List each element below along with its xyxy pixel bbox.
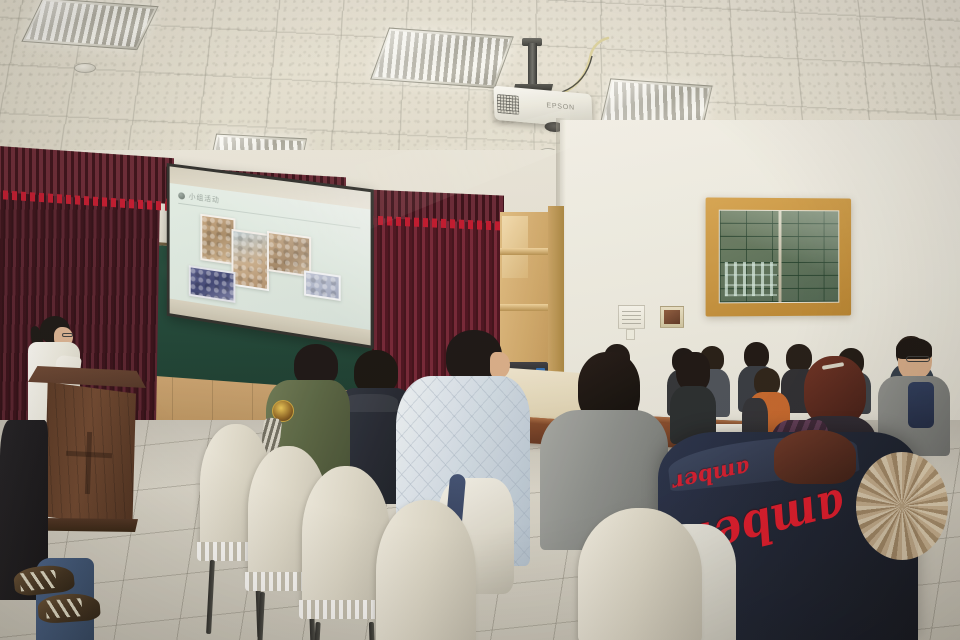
classroom-presentation-photo: EPSON 小组活动: [0, 0, 960, 640]
wall-window: [706, 197, 851, 316]
photo-grain: [191, 267, 234, 300]
photo-grain: [306, 273, 339, 299]
attendee-head: [786, 344, 812, 372]
slide-photo-1: [200, 214, 235, 266]
sneaker-stripes: [19, 570, 57, 592]
photo-grain: [233, 231, 267, 289]
chair-leg: [256, 592, 265, 640]
chair-leg: [206, 560, 215, 634]
wall-notice-tag: [626, 329, 635, 340]
chair-back-cover: [578, 508, 702, 640]
chair-back-cover: [376, 500, 476, 640]
window-glare: [720, 211, 839, 303]
smoke-detector-icon: [74, 63, 96, 73]
photo-grain: [202, 216, 233, 263]
podium-base: [40, 518, 138, 532]
projector-power-cable: [556, 36, 610, 98]
projector-brand-label: EPSON: [546, 102, 575, 112]
slide-photo-5: [304, 270, 341, 301]
fluorescent-light-panel-2: [370, 28, 514, 89]
hood-fold: [342, 394, 398, 412]
slide-photo-2: [231, 229, 269, 291]
chair-leg: [312, 622, 320, 640]
window-glass: [719, 210, 840, 304]
attendee-red-script-hair: [774, 430, 856, 484]
wall-picture-image: [664, 310, 680, 324]
glasses-icon: [906, 356, 930, 362]
covered-chair-4: [376, 500, 476, 640]
covered-chair-5: [578, 508, 702, 640]
slide-photo-4: [189, 265, 236, 303]
fur-hood-trim: [856, 452, 948, 560]
cabinet-open-shelf: [502, 216, 528, 278]
photo-grain: [269, 233, 309, 275]
attendee-face-profile: [490, 352, 510, 378]
circle-bullet-icon: [178, 192, 185, 200]
wall-picture-frame: [660, 306, 684, 328]
attendee-head: [744, 342, 769, 369]
attendee-shirt: [908, 382, 934, 428]
glasses-icon: [62, 333, 73, 337]
sneaker-stripes: [45, 598, 82, 618]
projector-vent-grille: [497, 94, 520, 115]
projector-mount-pole: [528, 43, 537, 85]
slide-title: 小组活动: [189, 191, 220, 205]
fluorescent-light-panel-1: [21, 0, 158, 50]
wall-notice-sign: [618, 305, 645, 329]
projection-screen-surface: 小组活动: [170, 166, 371, 345]
